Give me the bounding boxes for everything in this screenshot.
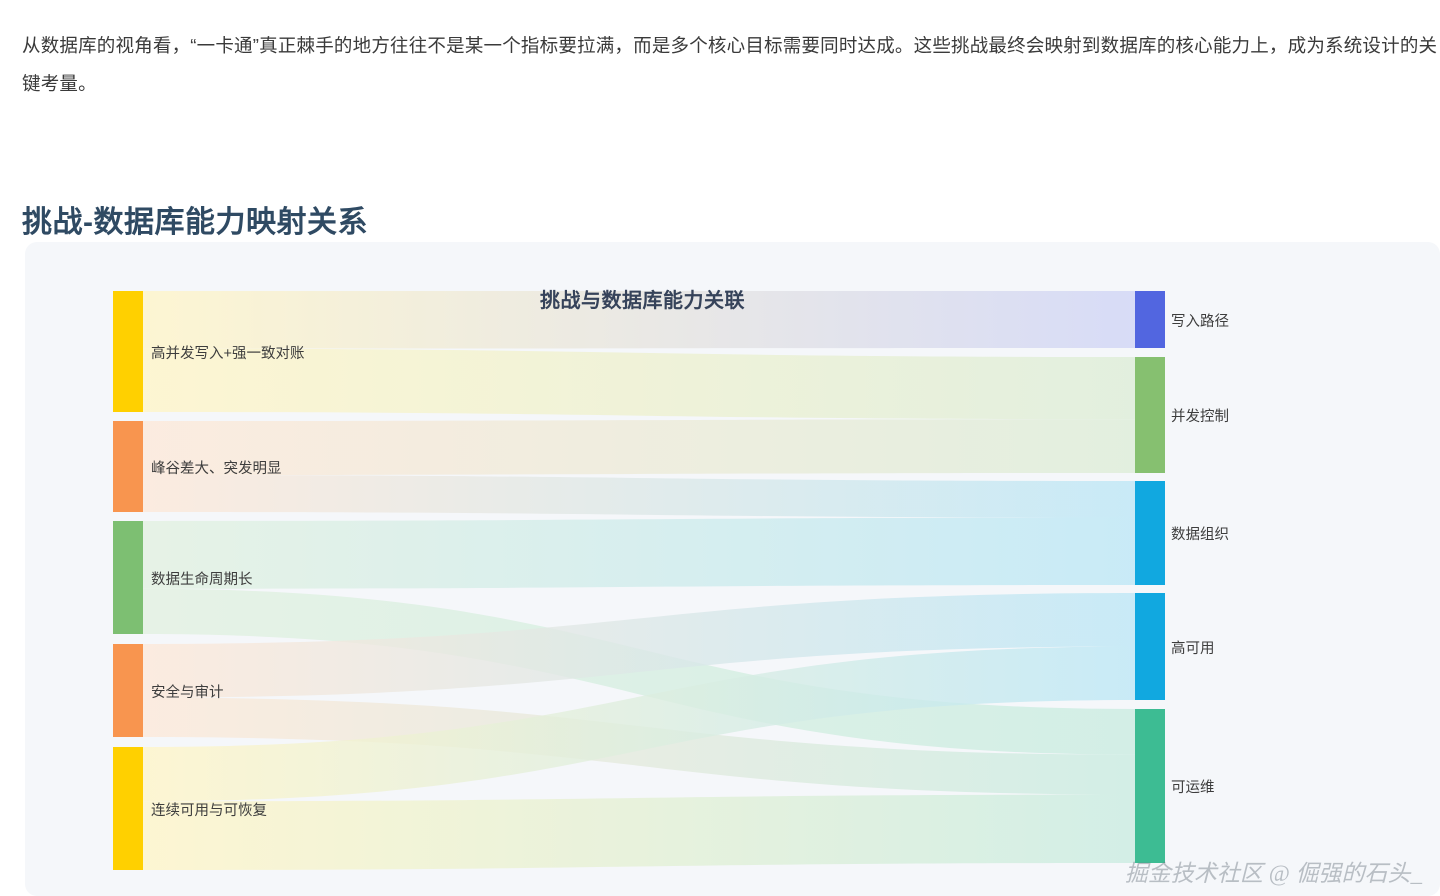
sankey-link[interactable] — [143, 291, 1135, 349]
sankey-link[interactable] — [143, 795, 1135, 870]
sankey-links-layer — [143, 291, 1135, 870]
sankey-chart-stage: 挑战与数据库能力关联 高并发写入+强一致对账峰谷差大、突发明显数据生命周期长安全… — [25, 242, 1440, 896]
intro-paragraph: 从数据库的视角看，“一卡通”真正棘手的地方往往不是某一个指标要拉满，而是多个核心… — [22, 27, 1440, 103]
sankey-diagram — [25, 242, 1440, 896]
sankey-node-n9[interactable] — [1135, 709, 1165, 863]
sankey-link[interactable] — [143, 518, 1135, 589]
sankey-node-n7[interactable] — [1135, 481, 1165, 585]
sankey-node-n4[interactable] — [113, 747, 143, 870]
sankey-chart-card: 挑战与数据库能力关联 高并发写入+强一致对账峰谷差大、突发明显数据生命周期长安全… — [25, 242, 1440, 896]
sankey-link[interactable] — [143, 349, 1135, 420]
sankey-node-n8[interactable] — [1135, 593, 1165, 700]
sankey-node-n2[interactable] — [113, 521, 143, 634]
sankey-node-n3[interactable] — [113, 644, 143, 737]
sankey-link[interactable] — [143, 419, 1135, 475]
sankey-node-n5[interactable] — [1135, 291, 1165, 348]
sankey-node-n0[interactable] — [113, 291, 143, 412]
article-page: 从数据库的视角看，“一卡通”真正棘手的地方往往不是某一个指标要拉满，而是多个核心… — [0, 0, 1440, 896]
sankey-link[interactable] — [143, 475, 1135, 518]
page-title: 挑战-数据库能力映射关系 — [22, 197, 368, 241]
sankey-node-n6[interactable] — [1135, 357, 1165, 473]
sankey-node-n1[interactable] — [113, 421, 143, 512]
